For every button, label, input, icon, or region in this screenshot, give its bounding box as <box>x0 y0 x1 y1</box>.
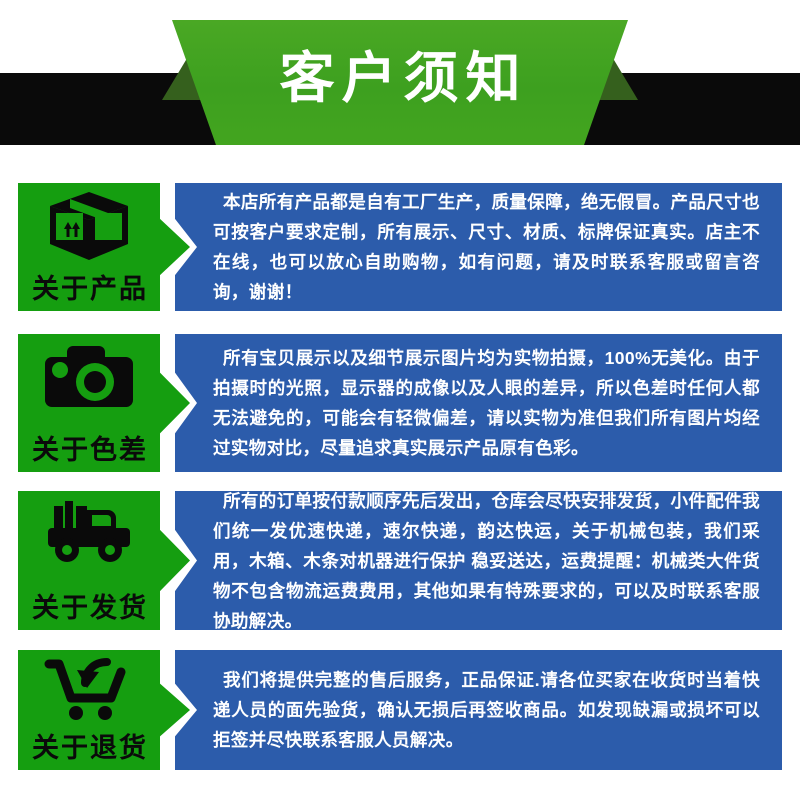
notice-panel-return: 我们将提供完整的售后服务，正品保证.请各位买家在收货时当着快递人员的面先验货，确… <box>175 650 782 770</box>
notice-panel-shipping: 所有的订单按付款顺序先后发出，仓库会尽快安排发货，小件配件我们统一发优速快递，速… <box>175 491 782 630</box>
customer-notice-page: 客户须知 关于产品 本店所有产品都是自有工厂生产，质量保障，绝无 <box>0 0 800 800</box>
page-title: 客户须知 <box>172 20 628 145</box>
category-card-shipping[interactable]: 关于发货 <box>18 491 190 630</box>
notice-row-product: 关于产品 本店所有产品都是自有工厂生产，质量保障，绝无假冒。产品尺寸也可按客户要… <box>0 183 800 311</box>
category-label-return: 关于退货 <box>18 735 160 762</box>
notice-text-product: 本店所有产品都是自有工厂生产，质量保障，绝无假冒。产品尺寸也可按客户要求定制，所… <box>213 187 760 307</box>
category-card-return[interactable]: 关于退货 <box>18 650 190 770</box>
return-cart-icon <box>18 656 160 722</box>
notice-row-color: 关于色差 所有宝贝展示以及细节展示图片均为实物拍摄，100%无美化。由于拍摄时的… <box>0 334 800 472</box>
notice-text-shipping: 所有的订单按付款顺序先后发出，仓库会尽快安排发货，小件配件我们统一发优速快递，速… <box>213 485 760 635</box>
category-card-product[interactable]: 关于产品 <box>18 183 190 311</box>
notice-text-color: 所有宝贝展示以及细节展示图片均为实物拍摄，100%无美化。由于拍摄时的光照，显示… <box>213 343 760 463</box>
notice-row-shipping: 关于发货 所有的订单按付款顺序先后发出，仓库会尽快安排发货，小件配件我们统一发优… <box>0 491 800 630</box>
category-label-color: 关于色差 <box>18 437 160 464</box>
notice-row-return: 关于退货 我们将提供完整的售后服务，正品保证.请各位买家在收货时当着快递人员的面… <box>0 650 800 770</box>
camera-icon <box>18 340 160 412</box>
category-card-color[interactable]: 关于色差 <box>18 334 190 472</box>
category-label-product: 关于产品 <box>18 276 160 303</box>
notice-panel-color: 所有宝贝展示以及细节展示图片均为实物拍摄，100%无美化。由于拍摄时的光照，显示… <box>175 334 782 472</box>
truck-icon <box>18 497 160 563</box>
notice-panel-product: 本店所有产品都是自有工厂生产，质量保障，绝无假冒。产品尺寸也可按客户要求定制，所… <box>175 183 782 311</box>
category-label-shipping: 关于发货 <box>18 595 160 622</box>
page-header: 客户须知 <box>0 0 800 150</box>
package-box-icon <box>18 189 160 263</box>
notice-text-return: 我们将提供完整的售后服务，正品保证.请各位买家在收货时当着快递人员的面先验货，确… <box>213 665 760 755</box>
